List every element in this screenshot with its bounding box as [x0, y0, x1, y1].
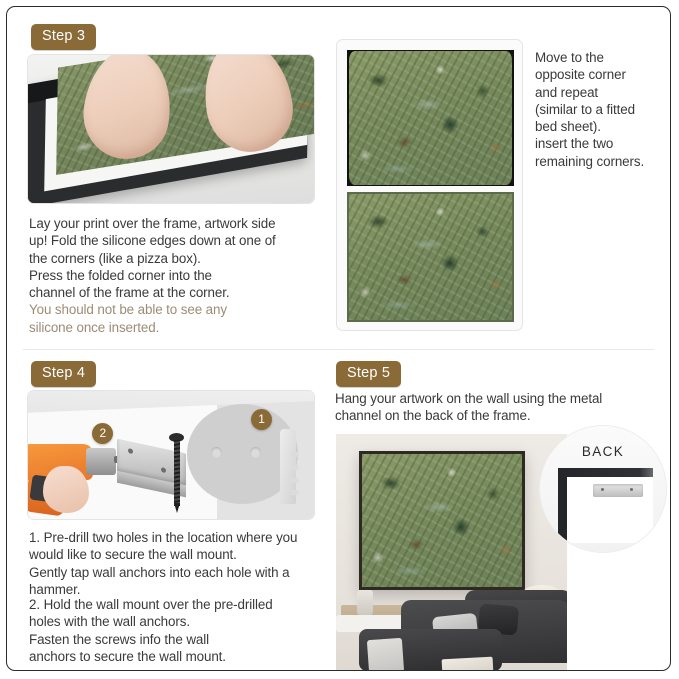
bracket-hole-left: [128, 448, 133, 454]
frame-back-bevel: [558, 468, 654, 477]
instruction-page: Step 3 Lay your print over the frame, ar…: [6, 6, 671, 671]
bracket-hole-right: [161, 467, 166, 473]
step-3-text-block: Lay your print over the frame, artwork s…: [29, 215, 329, 336]
step-5-badge: Step 5: [336, 361, 401, 387]
artwork-stretched-image: [347, 192, 514, 322]
hung-artwork-texture: [362, 454, 522, 587]
step-3-side-note: Move to the opposite corner and repeat (…: [535, 49, 671, 170]
back-of-frame-inset: BACK: [540, 426, 666, 552]
screw-tip: [174, 503, 180, 513]
back-label: BACK: [540, 444, 666, 459]
step-3-badge: Step 3: [31, 24, 96, 50]
step-4-instruction-1: 1. Pre-drill two holes in the location w…: [29, 529, 329, 598]
screw-icon: [172, 433, 181, 512]
step-5-room-photo: [336, 434, 567, 671]
hung-artwork-frame: [359, 451, 525, 590]
wall-anchor-icon: [280, 429, 296, 503]
step-3-instructions-highlight: You should not be able to see any silico…: [29, 301, 329, 336]
step-4-badge: Step 4: [31, 361, 96, 387]
step-4-5-section: Step 4 1 2: [7, 351, 670, 670]
step-3-progress-panel: [336, 39, 523, 331]
drill-chuck: [86, 448, 116, 475]
hand-on-drill: [43, 466, 89, 512]
decor-vase: [357, 590, 373, 614]
section-divider: [23, 349, 654, 350]
step-4-diagram: 1 2: [27, 390, 315, 520]
step-3-instructions: Lay your print over the frame, artwork s…: [29, 215, 329, 301]
frame-corner-photo: [28, 55, 314, 203]
step-3-photo: [27, 54, 315, 204]
artwork-stretched-texture: [349, 194, 512, 320]
drilled-hole-right: [250, 447, 261, 458]
artwork-draped-texture: [349, 51, 512, 185]
marker-1-badge: 1: [251, 409, 272, 430]
open-magazine: [442, 657, 494, 671]
screw-shaft: [174, 440, 180, 506]
frame-back-corner: [558, 468, 654, 544]
step-5-instructions: Hang your artwork on the wall using the …: [335, 390, 655, 425]
artwork-draped-image: [347, 50, 514, 186]
step-3-section: Step 3 Lay your print over the frame, ar…: [7, 7, 670, 350]
metal-hanging-channel: [593, 484, 643, 497]
step-4-instruction-2: 2. Hold the wall mount over the pre-dril…: [29, 596, 329, 665]
throw-blanket: [367, 638, 404, 671]
